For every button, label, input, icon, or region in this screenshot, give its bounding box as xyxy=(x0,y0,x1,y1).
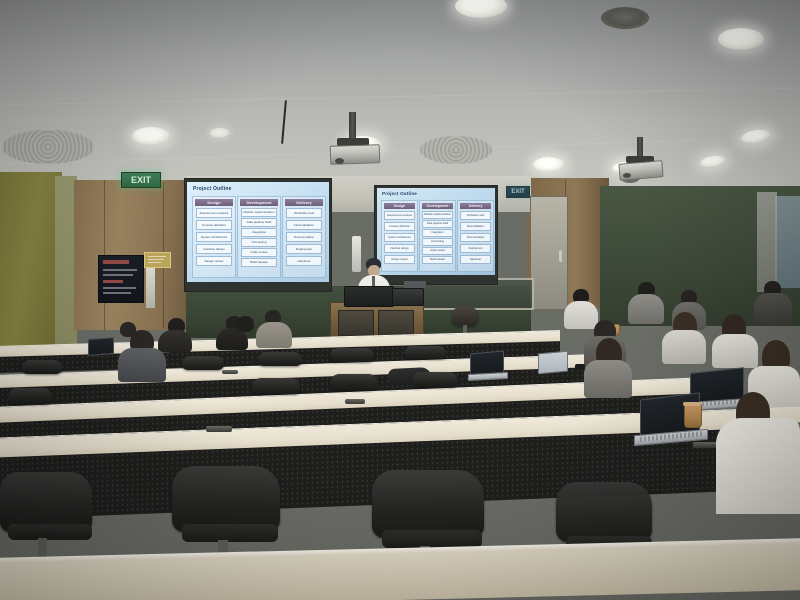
slide-cell: Design review xyxy=(384,255,415,264)
chair-back[interactable] xyxy=(372,470,484,538)
ceiling-air-diffuser xyxy=(2,130,94,164)
coffee-cup[interactable] xyxy=(684,404,702,428)
audience-body xyxy=(584,360,632,398)
slide-cell: Verification test xyxy=(460,211,491,220)
slide-cell: Handover xyxy=(460,255,491,264)
slide-cell: Unit testing xyxy=(422,238,453,246)
ceiling-downlight xyxy=(533,157,565,172)
audience-head xyxy=(237,316,254,332)
chair-back[interactable] xyxy=(252,378,300,394)
audience-body xyxy=(118,348,166,382)
audience-body xyxy=(564,301,598,329)
chair-back[interactable] xyxy=(258,352,302,366)
slide-cell: Verification test xyxy=(286,208,322,218)
slide-cell: Design review xyxy=(196,256,232,266)
slide-cell: Integration xyxy=(241,228,277,237)
slide-title: Project Outline xyxy=(193,186,232,192)
wall-poster xyxy=(98,255,144,303)
chair-seat[interactable] xyxy=(382,530,482,548)
desk-cable-port[interactable] xyxy=(345,399,365,404)
slide-column: Development Module implementation Data p… xyxy=(237,196,281,278)
slide-cell: Field validation xyxy=(286,220,322,230)
chair-seat[interactable] xyxy=(182,524,278,542)
slide-cell: Build release xyxy=(241,258,277,267)
slide-column: Development Module implementation Data p… xyxy=(419,200,456,272)
chair-back[interactable] xyxy=(182,356,224,370)
ceiling-downlight xyxy=(210,128,230,138)
chair-back[interactable] xyxy=(172,466,280,532)
projection-screen-left: Project Outline Design Requirement analy… xyxy=(187,182,329,282)
slide-title: Project Outline xyxy=(382,191,417,196)
chair-back[interactable] xyxy=(8,388,52,404)
desk-cable-port[interactable] xyxy=(222,370,238,374)
wall-panel-olive xyxy=(0,172,62,362)
slide-cell: Concept definition xyxy=(384,222,415,231)
ceiling-downlight xyxy=(718,28,764,50)
slide-cell: Interface design xyxy=(384,244,415,253)
ceiling-downlight xyxy=(132,127,170,145)
chair-back[interactable] xyxy=(404,346,446,359)
slide-cell: Module implementation xyxy=(422,211,453,219)
slide-column: Delivery Verification test Field validat… xyxy=(282,196,326,278)
slide-column-header: Design xyxy=(384,203,415,209)
slide-cell: Unit testing xyxy=(241,238,277,247)
slide-column-header: Development xyxy=(240,199,278,206)
chair-back[interactable] xyxy=(412,372,458,387)
chair-seat[interactable] xyxy=(8,524,92,540)
projection-screen-left-frame: Project Outline Design Requirement analy… xyxy=(184,178,332,292)
slide-cell: Build release xyxy=(422,256,453,264)
slide-cell: Data pipeline build xyxy=(422,220,453,228)
slide-cell: Deployment xyxy=(286,244,322,254)
chair-back[interactable] xyxy=(452,306,478,326)
audience-body xyxy=(662,330,706,364)
slide-cell: Field validation xyxy=(460,222,491,231)
lectern-equipment xyxy=(404,281,426,288)
chair-back[interactable] xyxy=(22,360,62,374)
slide-column-header: Delivery xyxy=(285,199,323,206)
lectern-monitor xyxy=(344,286,394,307)
coffee-cup-lid xyxy=(683,402,701,406)
slide-cell: Documentation xyxy=(460,233,491,242)
slide-column-header: Delivery xyxy=(460,203,491,209)
window xyxy=(775,196,800,288)
exit-sign-left: EXIT xyxy=(121,172,161,188)
slide-column-header: Design xyxy=(195,199,233,206)
audience-body xyxy=(256,322,292,348)
slide-column: Design Requirement analysis Concept defi… xyxy=(381,200,418,272)
slide-cell: Requirement analysis xyxy=(196,208,232,218)
chair-back[interactable] xyxy=(0,472,92,532)
lectern-control-panel xyxy=(392,288,424,306)
wall-strip xyxy=(146,268,155,308)
chair-back[interactable] xyxy=(556,482,652,542)
slide-cell: Code review xyxy=(241,248,277,257)
chair-back[interactable] xyxy=(330,374,378,390)
slide-cell: Data pipeline build xyxy=(241,218,277,227)
door-handle[interactable] xyxy=(559,250,562,262)
lecture-hall-photo: EXIT EXIT Project Outline Design Require… xyxy=(0,0,800,600)
smartphone[interactable] xyxy=(575,364,585,370)
slide-column-header: Development xyxy=(422,203,453,209)
slide-cell: Concept definition xyxy=(196,220,232,230)
slide-column: Delivery Verification test Field validat… xyxy=(457,200,494,272)
slide-cell: Code review xyxy=(422,247,453,255)
projector-lens xyxy=(623,173,631,178)
chair-back[interactable] xyxy=(330,348,374,362)
slide-column: Design Requirement analysis Concept defi… xyxy=(192,196,236,278)
slide-cell: Interface design xyxy=(196,244,232,254)
slide-cell: System architecture xyxy=(196,232,232,242)
slide-cell: Module implementation xyxy=(241,208,277,217)
projector-lens xyxy=(335,158,344,164)
audience-laptop[interactable] xyxy=(538,351,568,375)
ceiling-air-diffuser xyxy=(420,136,492,164)
slide-cell: Handover xyxy=(286,256,322,266)
audience-body xyxy=(158,330,192,352)
lectern-front-panel xyxy=(378,310,414,336)
audience-body xyxy=(628,294,664,324)
projection-screen-right: Project Outline Design Requirement analy… xyxy=(377,188,495,275)
ceiling-speaker xyxy=(601,7,649,29)
slide-cell: Integration xyxy=(422,229,453,237)
slide-cell: Documentation xyxy=(286,232,322,242)
slide-cell: System architecture xyxy=(384,233,415,242)
door-front-right[interactable] xyxy=(530,196,568,310)
audience-laptop[interactable] xyxy=(88,337,114,356)
audience-body-near xyxy=(716,418,800,514)
desk-cable-port[interactable] xyxy=(206,426,232,432)
slide-cell: Requirement analysis xyxy=(384,211,415,220)
projection-screen-right-frame: Project Outline Design Requirement analy… xyxy=(374,185,498,285)
wall-sign xyxy=(144,252,171,268)
slide-cell: Deployment xyxy=(460,244,491,253)
audience-body xyxy=(754,293,792,325)
audience-body xyxy=(712,334,758,368)
front-pillar-light xyxy=(352,236,361,272)
exit-sign-right: EXIT xyxy=(506,186,530,198)
window-frame xyxy=(757,192,777,292)
lectern-front-panel xyxy=(338,310,374,336)
